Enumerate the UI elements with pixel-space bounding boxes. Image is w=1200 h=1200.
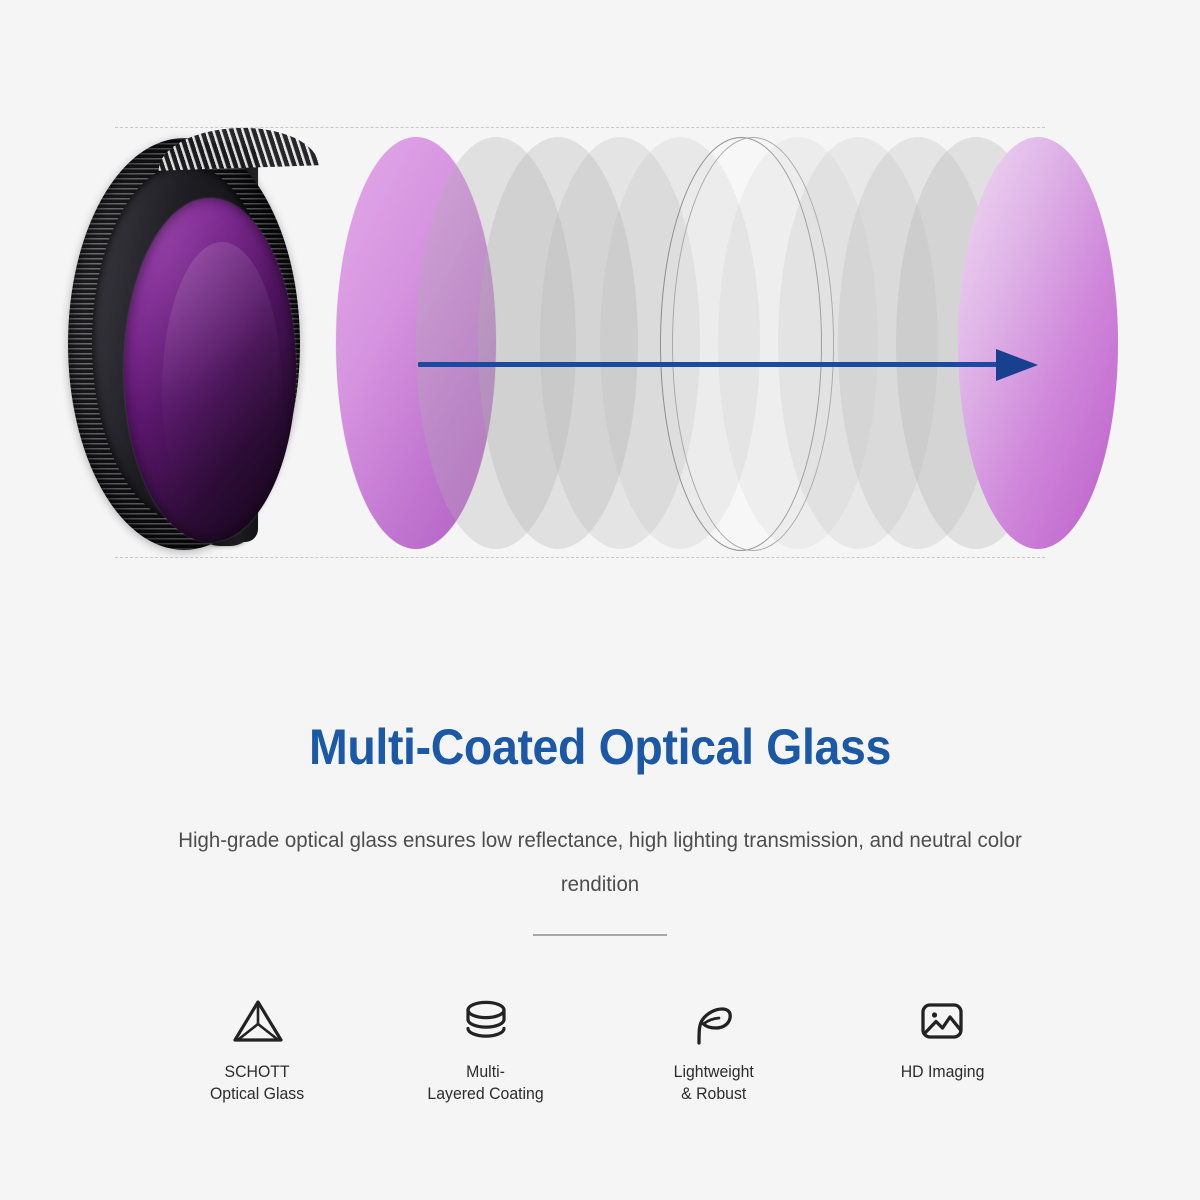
ring-teeth-highlight (157, 125, 318, 171)
image-photo-icon (917, 995, 967, 1047)
exploded-lens-diagram: NEEWER® (0, 0, 1200, 690)
feature-highlights: SCHOTT Optical Glass Multi- Layered Coat… (150, 995, 1050, 1105)
feature-item-lightweight-robust: Lightweight & Robust (607, 995, 822, 1105)
stacked-layers-icon (461, 995, 511, 1047)
product-feature-banner: NEEWER® Multi-Coated Optical Glass High-… (0, 0, 1200, 1200)
glass-specular-sheen (162, 242, 282, 542)
section-divider (533, 934, 667, 936)
coating-layer-back (958, 137, 1118, 549)
light-path-arrow (418, 345, 1038, 385)
page-subtitle: High-grade optical glass ensures low ref… (149, 818, 1052, 906)
feature-label: SCHOTT Optical Glass (210, 1061, 304, 1105)
feature-label: Lightweight & Robust (674, 1061, 754, 1105)
feature-item-schott-optical-glass: SCHOTT Optical Glass (150, 995, 365, 1105)
feature-label: Multi- Layered Coating (428, 1061, 544, 1105)
nd-filter-product: NEEWER® (62, 120, 342, 570)
right-arrow-icon (996, 349, 1038, 381)
feature-item-hd-imaging: HD Imaging (835, 995, 1050, 1083)
feature-label: HD Imaging (901, 1061, 985, 1083)
knurled-focus-ring (68, 138, 300, 550)
feather-icon (689, 995, 739, 1047)
arrow-shaft (418, 362, 1006, 367)
feature-item-multi-layered-coating: Multi- Layered Coating (378, 995, 593, 1105)
prism-triangle-icon (232, 995, 284, 1047)
filter-inner-bezel (92, 164, 278, 522)
filter-glass-disc (124, 198, 296, 542)
page-title: Multi-Coated Optical Glass (42, 718, 1158, 776)
